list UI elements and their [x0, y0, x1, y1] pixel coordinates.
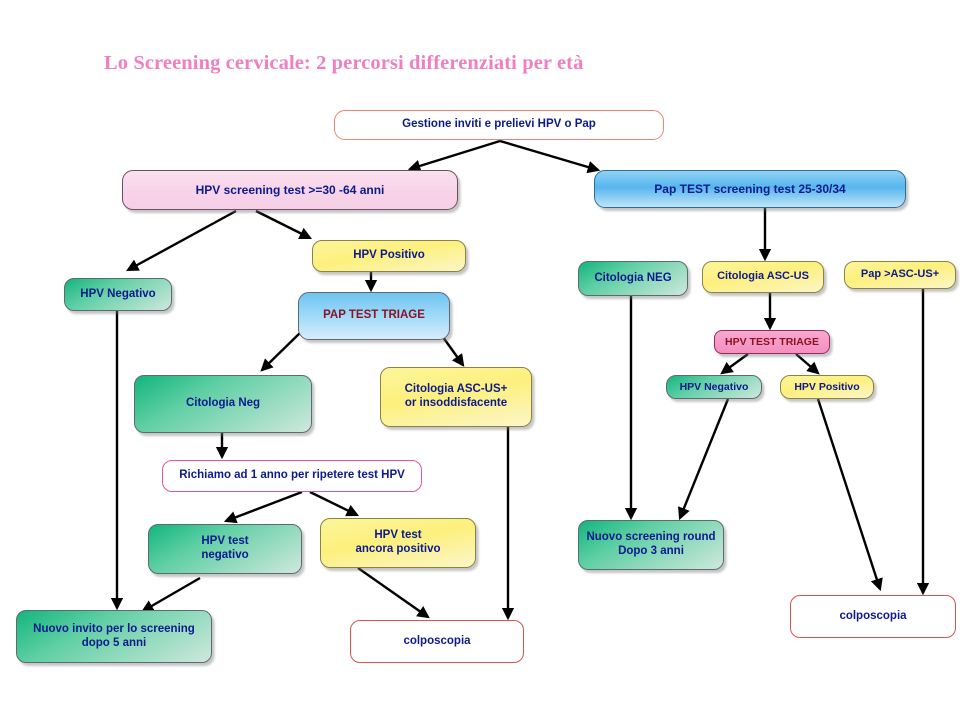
node-pap-test-triage[interactable]: PAP TEST TRIAGE — [298, 292, 450, 340]
node-label-colposcopia-left: colposcopia — [397, 635, 476, 649]
node-label-citologia-neg-1: Citologia Neg — [180, 397, 266, 411]
node-hpv-test-neg[interactable]: HPV testnegativo — [148, 524, 302, 574]
flow-arrow-triage-to-citoneg — [262, 330, 303, 370]
flow-arrow-gestione-to-pap — [500, 141, 598, 170]
flow-arrow-richiamo-to-testpos — [310, 492, 357, 515]
node-label-pap-test-triage: PAP TEST TRIAGE — [317, 309, 431, 323]
node-gestione[interactable]: Gestione inviti e prelievi HPV o Pap — [334, 110, 664, 140]
node-label-hpv-negativo-2: HPV Negativo — [674, 381, 755, 394]
node-hpv-negativo-1[interactable]: HPV Negativo — [64, 278, 172, 311]
flow-arrow-hpvtriage-to-neg — [722, 354, 748, 373]
node-label-gestione: Gestione inviti e prelievi HPV o Pap — [396, 118, 602, 132]
node-nuovo-invito-5[interactable]: Nuovo invito per lo screeningdopo 5 anni — [16, 610, 212, 663]
node-label-hpv-screening: HPV screening test >=30 -64 anni — [190, 183, 391, 197]
node-hpv-positivo-2[interactable]: HPV Positivo — [780, 375, 874, 399]
node-label-citologia-ascus: Citologia ASC-US+or insoddisfacente — [399, 383, 514, 411]
node-label-citologia-ascus-2: Citologia ASC-US — [711, 270, 815, 283]
node-citologia-ascus[interactable]: Citologia ASC-US+or insoddisfacente — [380, 367, 532, 427]
node-hpv-screening[interactable]: HPV screening test >=30 -64 anni — [122, 170, 458, 210]
flow-arrow-hpvtriage-to-pos — [796, 354, 818, 373]
node-nuovo-screening-3[interactable]: Nuovo screening roundDopo 3 anni — [578, 520, 724, 570]
flow-arrow-hpv-to-positivo — [256, 211, 310, 238]
node-citologia-ascus-2[interactable]: Citologia ASC-US — [702, 261, 824, 293]
flow-arrow-hpv-to-negativo — [128, 211, 236, 270]
node-pap-ascus-plus[interactable]: Pap >ASC-US+ — [844, 261, 956, 289]
page-title: Lo Screening cervicale: 2 percorsi diffe… — [104, 52, 583, 75]
flow-arrow-richiamo-to-testneg — [226, 492, 302, 521]
flow-arrow-hpvpos2-to-colposcopia — [818, 399, 880, 589]
node-label-richiamo-1-anno: Richiamo ad 1 anno per ripetere test HPV — [173, 469, 411, 483]
node-label-pap-screening: Pap TEST screening test 25-30/34 — [648, 182, 851, 196]
node-colposcopia-right[interactable]: colposcopia — [790, 595, 956, 638]
node-label-colposcopia-right: colposcopia — [833, 610, 912, 624]
node-label-hpv-positivo-1: HPV Positivo — [347, 249, 431, 263]
node-label-nuovo-screening-3: Nuovo screening roundDopo 3 anni — [580, 531, 721, 559]
node-citologia-neg-1[interactable]: Citologia Neg — [134, 375, 312, 433]
node-label-hpv-test-triage: HPV TEST TRIAGE — [719, 336, 825, 349]
node-hpv-test-pos[interactable]: HPV testancora positivo — [320, 518, 476, 568]
flow-arrow-testneg-to-nuovoinvito — [143, 578, 200, 611]
node-hpv-positivo-1[interactable]: HPV Positivo — [312, 240, 466, 272]
node-colposcopia-left[interactable]: colposcopia — [350, 620, 524, 663]
node-hpv-negativo-2[interactable]: HPV Negativo — [666, 375, 762, 399]
node-label-hpv-test-neg: HPV testnegativo — [195, 535, 254, 563]
flow-arrow-hpvneg2-to-nuovoscreening — [680, 399, 728, 518]
node-label-citologia-neg-2: Citologia NEG — [588, 272, 677, 286]
node-label-hpv-negativo-1: HPV Negativo — [74, 288, 161, 302]
flow-arrow-gestione-to-hpv — [410, 141, 500, 169]
node-label-hpv-test-pos: HPV testancora positivo — [350, 529, 447, 557]
node-label-nuovo-invito-5: Nuovo invito per lo screeningdopo 5 anni — [27, 623, 201, 651]
node-hpv-test-triage[interactable]: HPV TEST TRIAGE — [714, 330, 830, 354]
flow-arrow-testpos-to-colposcopia — [358, 568, 428, 617]
node-citologia-neg-2[interactable]: Citologia NEG — [578, 261, 688, 296]
diagram-canvas: Lo Screening cervicale: 2 percorsi diffe… — [0, 0, 960, 720]
node-label-pap-ascus-plus: Pap >ASC-US+ — [855, 268, 945, 281]
node-label-hpv-positivo-2: HPV Positivo — [788, 381, 865, 394]
node-richiamo-1-anno[interactable]: Richiamo ad 1 anno per ripetere test HPV — [162, 460, 422, 492]
node-pap-screening[interactable]: Pap TEST screening test 25-30/34 — [594, 170, 906, 208]
